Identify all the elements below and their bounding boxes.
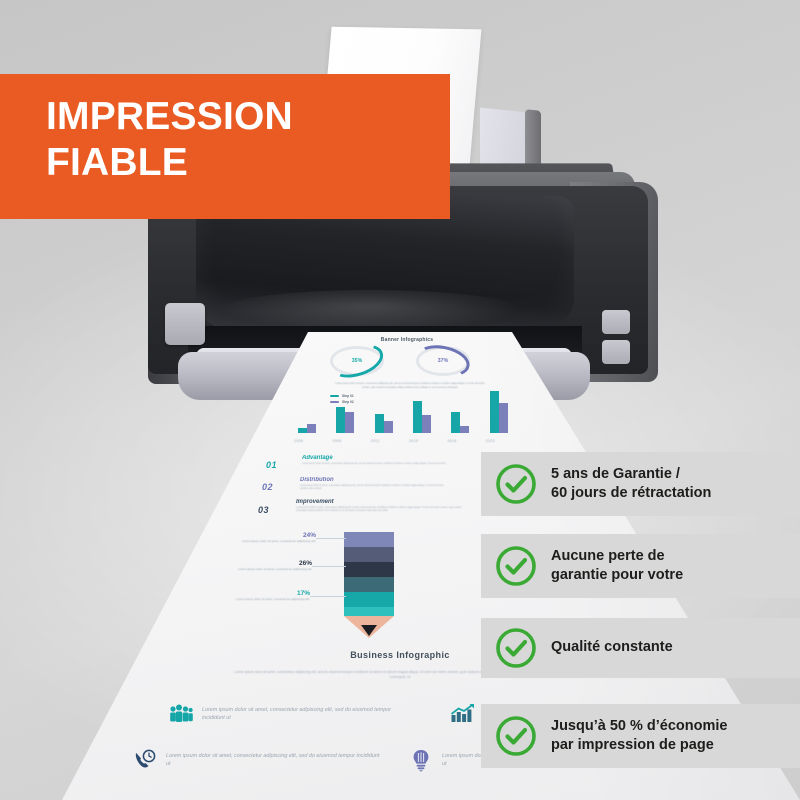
callout-leader-line: [310, 596, 346, 597]
feature-card-warranty[interactable]: 5 ans de Garantie / 60 jours de rétracta…: [481, 452, 800, 516]
bar-step-01: [490, 391, 499, 433]
list-item: 01 Advantage Lorem ipsum dolor sit amet,…: [262, 454, 512, 476]
bar-category-label: 2015: [409, 439, 418, 443]
list-item-heading: Distribution: [300, 477, 334, 483]
callout-leader-line: [316, 538, 346, 539]
funnel-callout-3: 17% Lorem ipsum dolor sit amet, consecte…: [192, 590, 310, 602]
pencil-tip-lead: [361, 625, 377, 636]
headline-line-2: FIABLE: [46, 140, 446, 186]
funnel-segment: [344, 532, 394, 547]
bar-step-01: [375, 414, 384, 433]
feature-text: Jusqu’à 50 % d’économie par impression d…: [551, 717, 727, 756]
feature-card-quality[interactable]: Qualité constante: [481, 618, 800, 678]
feature-line: garantie pour votre: [551, 566, 683, 585]
donut-value-2: 37%: [438, 358, 448, 364]
feature-card-no-warranty-loss[interactable]: Aucune perte de garantie pour votre: [481, 534, 800, 598]
bar-step-02: [422, 415, 431, 433]
feature-line: Jusqu’à 50 % d’économie: [551, 717, 727, 736]
infographic-title: Banner Infographics: [352, 337, 462, 343]
headline-banner: IMPRESSION FIABLE: [0, 74, 450, 219]
list-item-body: Lorem ipsum dolor sit amet, consectetur …: [300, 485, 450, 492]
funnel-callout-2: 26% Lorem ipsum dolor sit amet, consecte…: [212, 560, 312, 572]
feature-line: par impression de page: [551, 736, 727, 755]
funnel-segment: [344, 547, 394, 562]
list-item-number: 02: [262, 482, 273, 492]
feature-text: Qualité constante: [551, 638, 673, 657]
icon-block-text: Lorem ipsum dolor sit amet, consectetur …: [166, 752, 382, 769]
bar-step-01: [336, 407, 345, 433]
funnel-segment: [344, 562, 394, 577]
bar-step-02: [384, 421, 393, 433]
bar-category-label: 2018: [447, 439, 456, 443]
funnel-callout-1: 24% Lorem ipsum dolor sit amet, consecte…: [228, 532, 316, 544]
check-circle-icon: [495, 715, 537, 757]
bar-group: [336, 407, 354, 433]
check-circle-icon: [495, 627, 537, 669]
list-item-number: 03: [258, 505, 269, 515]
lightbulb-icon: [408, 748, 434, 772]
funnel-segment: [344, 577, 394, 592]
feature-text: 5 ans de Garantie / 60 jours de rétracta…: [551, 465, 711, 504]
panel-button-left[interactable]: [165, 303, 205, 345]
funnel-text: Lorem ipsum dolor sit amet, consecte-tur…: [192, 597, 310, 602]
list-item-heading: Improvement: [296, 499, 334, 505]
donut-chart-1: 35%: [330, 346, 384, 376]
panel-button-right-top[interactable]: [602, 310, 630, 334]
check-circle-icon: [495, 463, 537, 505]
feature-list: 5 ans de Garantie / 60 jours de rétracta…: [481, 452, 800, 768]
bar-step-01: [298, 428, 307, 433]
bar-group: [375, 414, 393, 433]
bar-group: [451, 412, 469, 433]
bar-step-02: [499, 403, 508, 433]
funnel-segment: [344, 607, 394, 616]
bar-step-02: [345, 412, 354, 433]
feature-line: 60 jours de rétractation: [551, 484, 711, 503]
bar-step-02: [307, 424, 316, 433]
donut-chart-group: 35% 37%: [330, 346, 490, 380]
bar-category-label: 2023: [486, 439, 495, 443]
icon-block-text: Lorem ipsum dolor sit amet, consectetur …: [202, 706, 408, 723]
bar-group: [490, 391, 508, 433]
printer-gloss-highlight: [220, 290, 520, 330]
funnel-percent: 17%: [192, 590, 310, 597]
icon-block-people: Lorem ipsum dolor sit amet, consectetur …: [168, 702, 408, 726]
check-circle-icon: [495, 545, 537, 587]
funnel-percent: 24%: [228, 532, 316, 539]
phone-clock-icon: [132, 748, 158, 772]
list-item-body: Lorem ipsum dolor sit amet, consectetur …: [296, 507, 471, 514]
bar-group: [413, 401, 431, 433]
list-item: 03 Improvement Lorem ipsum dolor sit ame…: [262, 498, 512, 528]
feature-card-savings[interactable]: Jusqu’à 50 % d’économie par impression d…: [481, 704, 800, 768]
panel-button-right-bottom[interactable]: [602, 340, 630, 364]
people-group-icon: [168, 702, 194, 726]
bar-category-label: 2009: [332, 439, 341, 443]
growth-chart-icon: [450, 702, 476, 726]
bar-category-label: 2012: [371, 439, 380, 443]
bar-chart: 200620092012201520182023: [292, 387, 522, 443]
feature-line: 5 ans de Garantie /: [551, 465, 711, 484]
bar-group: [298, 424, 316, 433]
bar-category-label: 2006: [294, 439, 303, 443]
bar-step-02: [460, 426, 469, 433]
list-item-heading: Advantage: [302, 455, 333, 461]
funnel-text: Lorem ipsum dolor sit amet, consecte-tur…: [228, 539, 316, 544]
feature-line: Aucune perte de: [551, 547, 683, 566]
icon-block-support: Lorem ipsum dolor sit amet, consectetur …: [132, 748, 382, 772]
feature-line: Qualité constante: [551, 638, 673, 657]
page-title: IMPRESSION FIABLE: [46, 94, 446, 185]
list-item-body: Lorem ipsum dolor sit amet, consectetur …: [302, 463, 452, 466]
numbered-list: 01 Advantage Lorem ipsum dolor sit amet,…: [262, 454, 512, 528]
promo-banner-image: Banner Infographics 35% 37% Lorem ipsum …: [0, 0, 800, 800]
funnel-segment: [344, 592, 394, 607]
list-item-number: 01: [266, 460, 277, 470]
feature-text: Aucune perte de garantie pour votre: [551, 547, 683, 586]
bar-step-01: [413, 401, 422, 433]
funnel-text: Lorem ipsum dolor sit amet, consecte-tur…: [212, 567, 312, 572]
list-item: 02 Distribution Lorem ipsum dolor sit am…: [262, 476, 512, 498]
pencil-funnel-graphic: [344, 532, 394, 637]
donut-chart-2: 37%: [416, 346, 470, 376]
donut-value-1: 35%: [352, 358, 362, 364]
callout-leader-line: [312, 566, 346, 567]
business-heading: Business Infographic: [300, 650, 500, 660]
bar-step-01: [451, 412, 460, 433]
headline-line-1: IMPRESSION: [46, 95, 293, 138]
funnel-percent: 26%: [212, 560, 312, 567]
